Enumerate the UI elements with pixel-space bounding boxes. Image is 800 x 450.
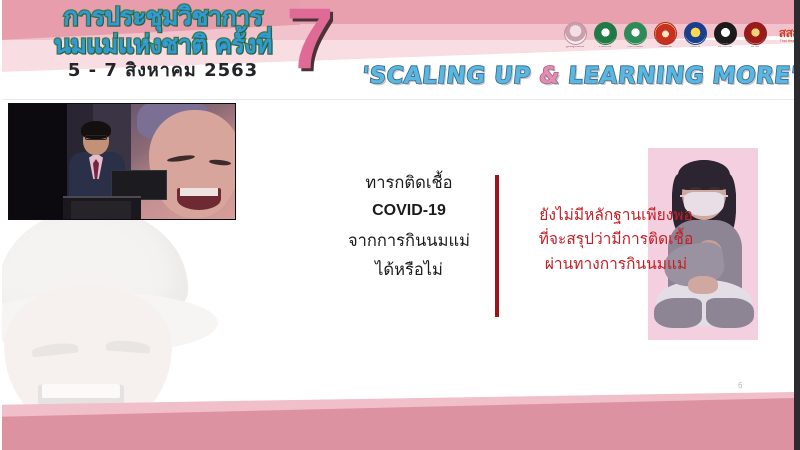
speaker-video-inset[interactable] (8, 103, 236, 220)
conference-title-line1: การประชุมวิชาการ (18, 4, 308, 29)
conference-date: 5 - 7 สิงหาคม 2563 (18, 62, 308, 80)
answer-line-2: ที่จะสรุปว่ามีการติดเชื้อ (505, 227, 727, 251)
question-line-1: ทารกติดเชื้อ (330, 168, 488, 197)
logo-ministry-of-public-health-seal: กรมอนามัย (592, 22, 618, 48)
logo-university-seal: มหาวิทยาลัย (712, 22, 738, 48)
slogan-ampersand: & (538, 63, 561, 89)
logo-thai-emblem-seal: กระทรวง (682, 22, 708, 48)
logo-royal-college-seal: ราชวิทยาลัย (652, 22, 678, 48)
edition-number: 7 (286, 0, 334, 82)
question-line-4: ได้หรือไม่ (330, 255, 488, 284)
player-right-edge (794, 0, 800, 450)
logo-thaihealth: สสส Thai Health (772, 27, 794, 44)
slogan-prefix: 'SCALING UP (361, 63, 541, 89)
player-left-edge (0, 0, 2, 450)
header-divider-line (0, 99, 794, 100)
video-player[interactable]: การประชุมวิชาการ นมแม่แห่งชาติ ครั้งที่ … (0, 0, 800, 450)
question-line-2: COVID-19 (330, 197, 488, 225)
vertical-divider-bar (495, 175, 499, 317)
presentation-slide: การประชุมวิชาการ นมแม่แห่งชาติ ครั้งที่ … (0, 0, 794, 450)
conference-title: การประชุมวิชาการ นมแม่แห่งชาติ ครั้งที่ … (18, 4, 308, 80)
answer-line-3: ผ่านทางการกินนมแม่ (505, 252, 727, 276)
slogan-suffix: LEARNING MORE' (558, 63, 794, 89)
conference-slogan: 'SCALING UP & LEARNING MORE' (361, 63, 794, 89)
question-text: ทารกติดเชื้อ COVID-19 จากการกินนมแม่ ได้… (330, 168, 488, 285)
conference-title-line2: นมแม่แห่งชาติ ครั้งที่ (18, 32, 308, 57)
answer-line-1: ยังไม่มีหลักฐานเพียงพอ (505, 203, 727, 227)
slide-page-number: 6 (738, 381, 742, 390)
logo-royal-patronage-seal: มูลนิธิศูนย์นมแม่ (562, 22, 588, 48)
logo-red-garuda-seal: สมาคม (742, 22, 768, 48)
answer-text: ยังไม่มีหลักฐานเพียงพอ ที่จะสรุปว่ามีการ… (505, 203, 727, 276)
question-line-3: จากการกินนมแม่ (330, 226, 488, 255)
logo-department-of-health-seal: กรมการแพทย์ (622, 22, 648, 48)
organizer-logos: มูลนิธิศูนย์นมแม่ กรมอนามัย กรมการแพทย์ … (562, 22, 794, 48)
